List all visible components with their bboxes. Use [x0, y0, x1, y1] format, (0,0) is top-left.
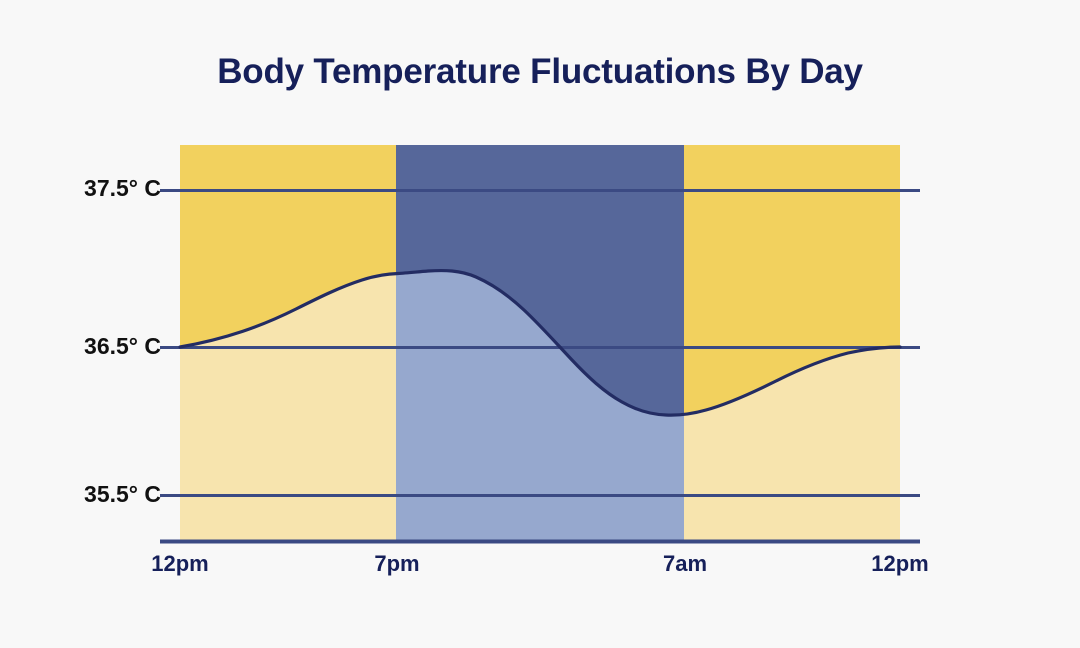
y-axis-tick-label: 35.5° C [21, 481, 161, 508]
x-axis-tick-label: 7pm [317, 551, 477, 577]
x-axis-tick-label: 12pm [820, 551, 980, 577]
y-axis-tick-label: 36.5° C [21, 333, 161, 360]
y-axis-tick-label: 37.5° C [21, 175, 161, 202]
x-axis-tick-label: 12pm [100, 551, 260, 577]
x-axis-tick-label: 7am [605, 551, 765, 577]
chart-canvas: Body Temperature Fluctuations By Day [0, 0, 1080, 648]
